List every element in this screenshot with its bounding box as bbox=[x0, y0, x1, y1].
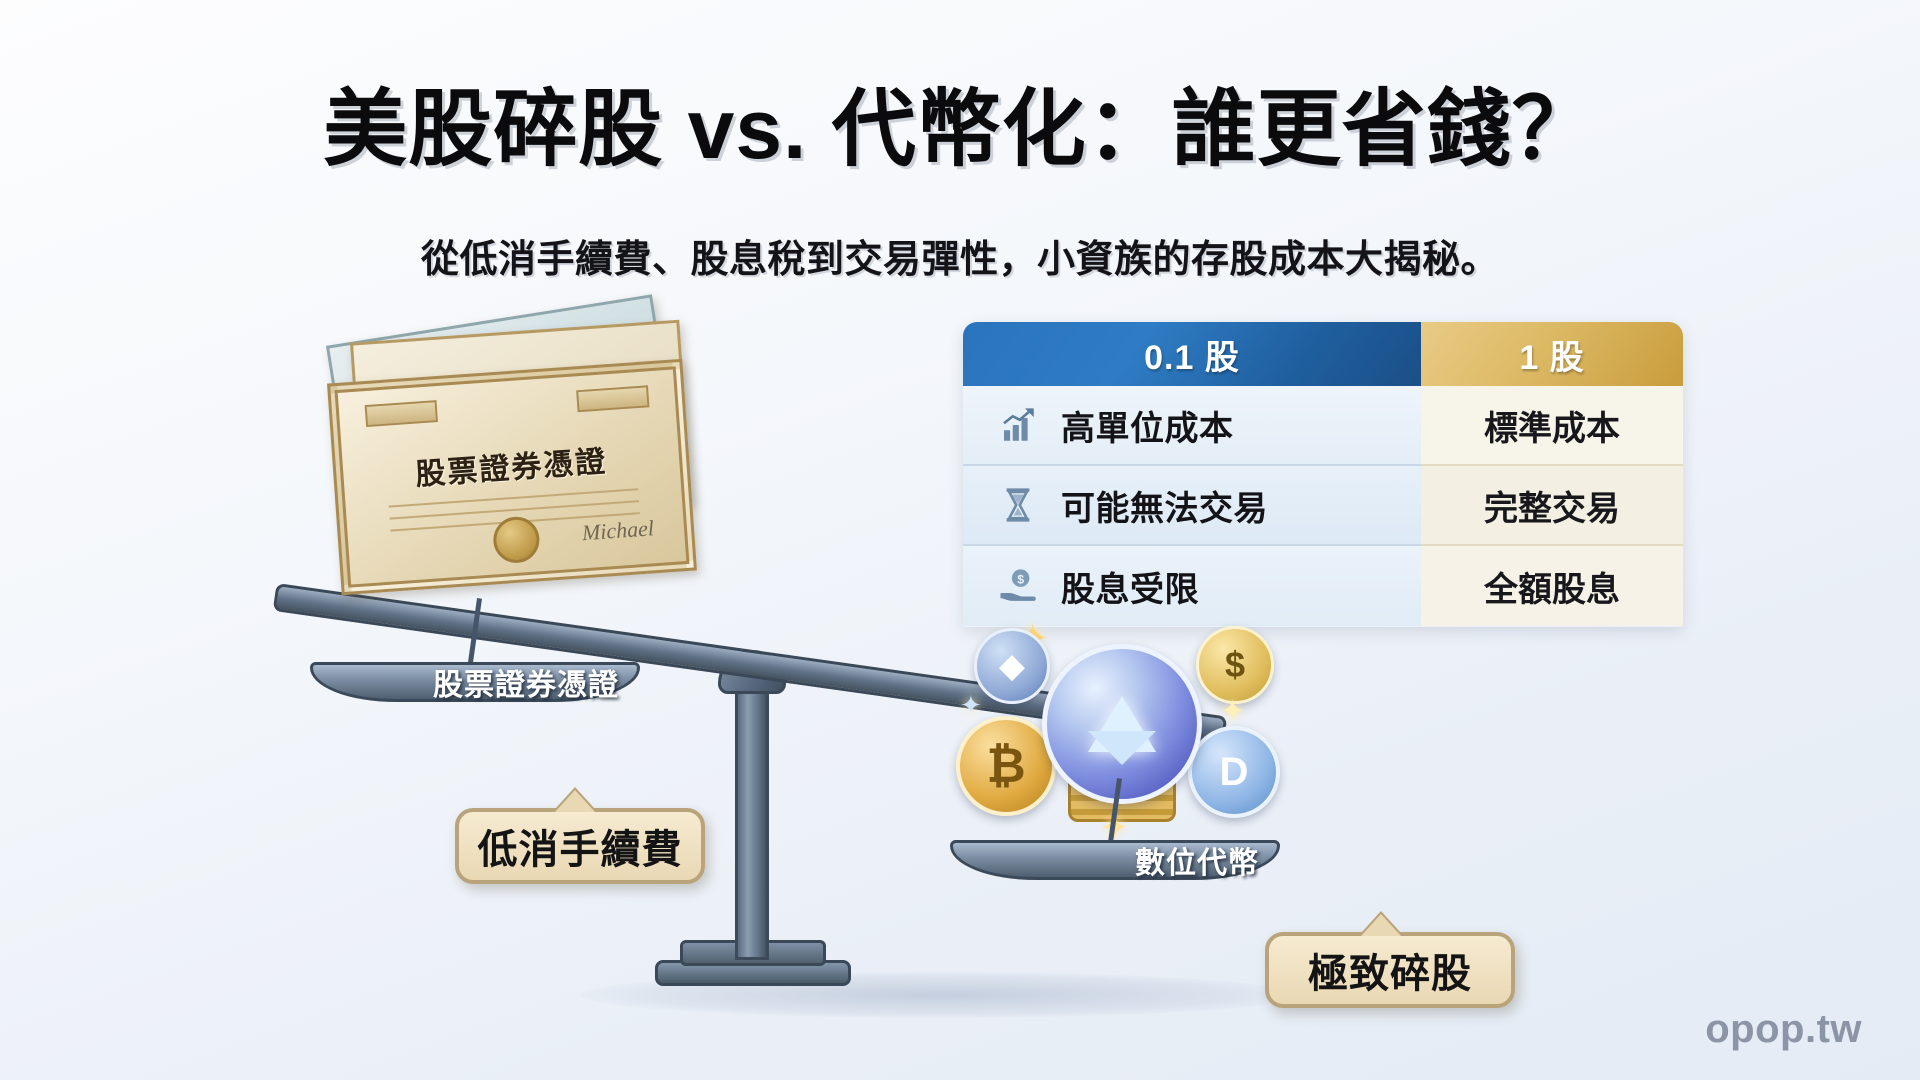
callout-label: 低消手續費 bbox=[478, 817, 683, 875]
certificate-ornament-right bbox=[576, 385, 649, 412]
table-header-row: 0.1 股 1 股 bbox=[963, 322, 1683, 386]
stock-certificate-stack: 股票證券憑證 Michael bbox=[310, 305, 740, 605]
certificate-ornament-left bbox=[365, 400, 438, 427]
scale-pan-right: 數位代幣 bbox=[950, 840, 1280, 880]
certificate-front: 股票證券憑證 Michael bbox=[327, 359, 697, 595]
callout-tail bbox=[555, 790, 595, 812]
page-title: 美股碎股 vs. 代幣化：誰更省錢？ bbox=[0, 62, 1920, 183]
bar-chart-growth-icon bbox=[997, 404, 1039, 446]
table-cell-whole: 標準成本 bbox=[1421, 386, 1683, 466]
scale-pan-right-label: 數位代幣 bbox=[1135, 838, 1259, 882]
ethereum-diamond-glyph-lower bbox=[1088, 731, 1156, 765]
callout-label: 極致碎股 bbox=[1308, 941, 1472, 999]
site-watermark: opop.tw bbox=[1705, 1007, 1862, 1052]
hourglass-icon bbox=[997, 484, 1039, 526]
crypto-token-cluster: ✦ ✦ ◆ $ ₿ D ✦ ✦ bbox=[950, 620, 1290, 850]
callout-low-fee: 低消手續費 bbox=[455, 808, 705, 884]
callout-tail bbox=[1361, 914, 1401, 936]
scale-pillar bbox=[735, 670, 769, 960]
sparkle-icon: ✦ bbox=[960, 690, 982, 721]
ethereum-coin-large-icon bbox=[1042, 644, 1202, 804]
bitcoin-coin-icon: ₿ bbox=[956, 716, 1056, 816]
dollar-coin-icon: $ bbox=[1196, 626, 1274, 704]
table-header-whole: 1 股 bbox=[1421, 322, 1683, 386]
sparkle-icon: ✦ bbox=[1220, 694, 1245, 729]
table-cell-fractional: 高單位成本 bbox=[963, 386, 1421, 466]
table-cell-whole: 完整交易 bbox=[1421, 466, 1683, 546]
page-subtitle: 從低消手續費、股息稅到交易彈性，小資族的存股成本大揭秘。 bbox=[0, 228, 1920, 283]
callout-extreme-fractional: 極致碎股 bbox=[1265, 932, 1515, 1008]
certificate-seal-icon bbox=[492, 515, 541, 564]
table-header-fractional: 0.1 股 bbox=[963, 322, 1421, 386]
scale-pan-left: 股票證券憑證 bbox=[310, 662, 640, 702]
certificate-title: 股票證券憑證 bbox=[414, 436, 609, 493]
ethereum-coin-small-icon: ◆ bbox=[974, 628, 1050, 704]
infographic-canvas: 美股碎股 vs. 代幣化：誰更省錢？ 從低消手續費、股息稅到交易彈性，小資族的存… bbox=[0, 0, 1920, 1080]
table-row: 可能無法交易 完整交易 bbox=[963, 466, 1683, 546]
table-cell-label: 可能無法交易 bbox=[1061, 481, 1268, 530]
table-cell-label: 高單位成本 bbox=[1061, 401, 1234, 450]
table-row: 高單位成本 標準成本 bbox=[963, 386, 1683, 466]
dash-coin-icon: D bbox=[1188, 726, 1280, 818]
certificate-signature: Michael bbox=[581, 515, 655, 546]
scale-pan-left-label: 股票證券憑證 bbox=[433, 660, 619, 704]
table-cell-fractional: 可能無法交易 bbox=[963, 466, 1421, 546]
